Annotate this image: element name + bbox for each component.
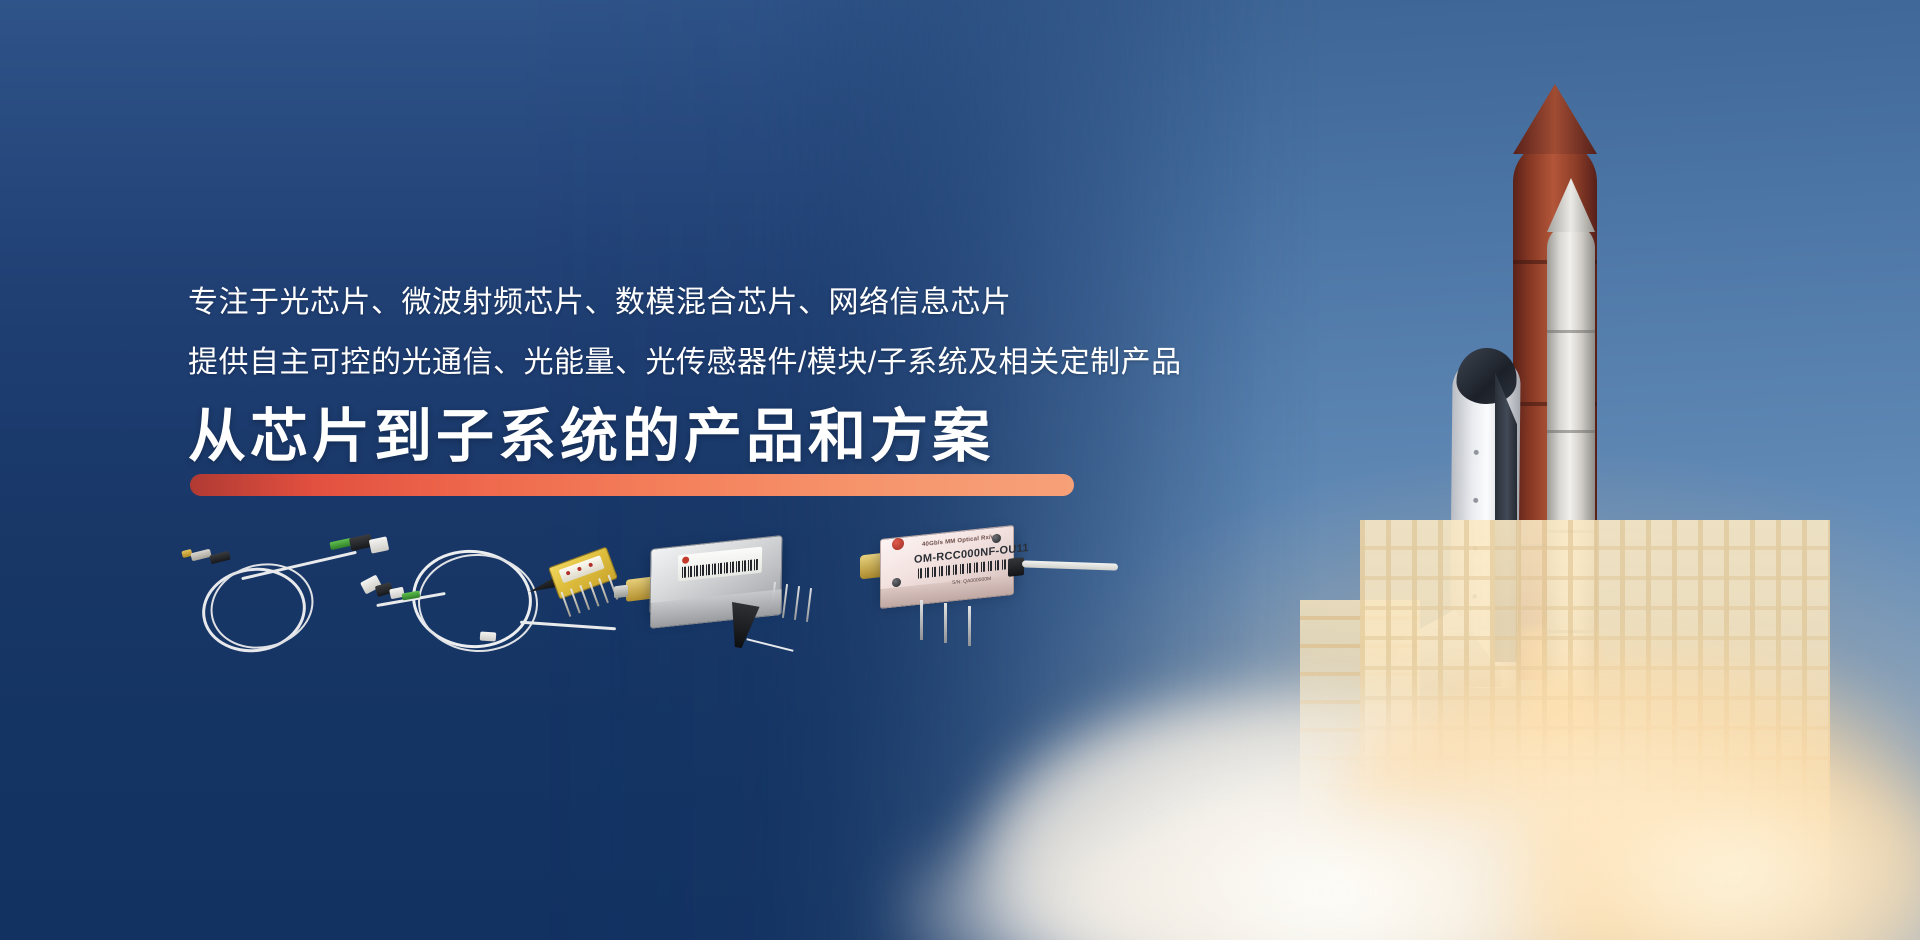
hero-subtitle-line-1: 专注于光芯片、微波射频芯片、数模混合芯片、网络信息芯片 <box>188 288 1012 318</box>
hero-subtitle-line-2: 提供自主可控的光通信、光能量、光传感器件/模块/子系统及相关定制产品 <box>188 348 1182 378</box>
pin <box>968 606 971 646</box>
fiber-strand <box>746 638 793 652</box>
fiber-strain-relief-boot <box>1008 557 1024 577</box>
hero-headline: 从芯片到子系统的产品和方案 <box>188 408 994 466</box>
srb-segment-line <box>1547 430 1595 433</box>
brand-logo-icon <box>682 556 689 564</box>
pin <box>920 600 923 640</box>
hero-headline-wrap: 从芯片到子系统的产品和方案 <box>188 408 994 466</box>
pin <box>589 582 600 607</box>
product-showcase-row: 40Gb/s MM Optical Rx/wk OM-RCC000NF-OU11… <box>180 520 1040 670</box>
pin <box>579 585 590 610</box>
orbiter-hatch <box>1473 498 1478 503</box>
orbiter-window <box>1474 450 1479 455</box>
headline-underline-bar <box>190 474 1074 496</box>
pin <box>794 586 800 620</box>
pin <box>561 592 572 617</box>
srb-segment-line <box>1547 330 1595 333</box>
fiber-connector-body <box>190 549 211 562</box>
fiber-dust-cap <box>369 536 390 553</box>
pin <box>944 603 947 643</box>
pin <box>570 588 581 613</box>
fiber-boot <box>209 551 231 565</box>
fiber-loop <box>416 552 539 654</box>
pin <box>598 578 609 603</box>
fiber-sleeve <box>480 631 497 641</box>
pin <box>782 584 788 618</box>
fiber-strand <box>520 621 616 631</box>
pin <box>806 588 812 622</box>
hero-banner: 专注于光芯片、微波射频芯片、数模混合芯片、网络信息芯片 提供自主可控的光通信、光… <box>0 0 1920 940</box>
